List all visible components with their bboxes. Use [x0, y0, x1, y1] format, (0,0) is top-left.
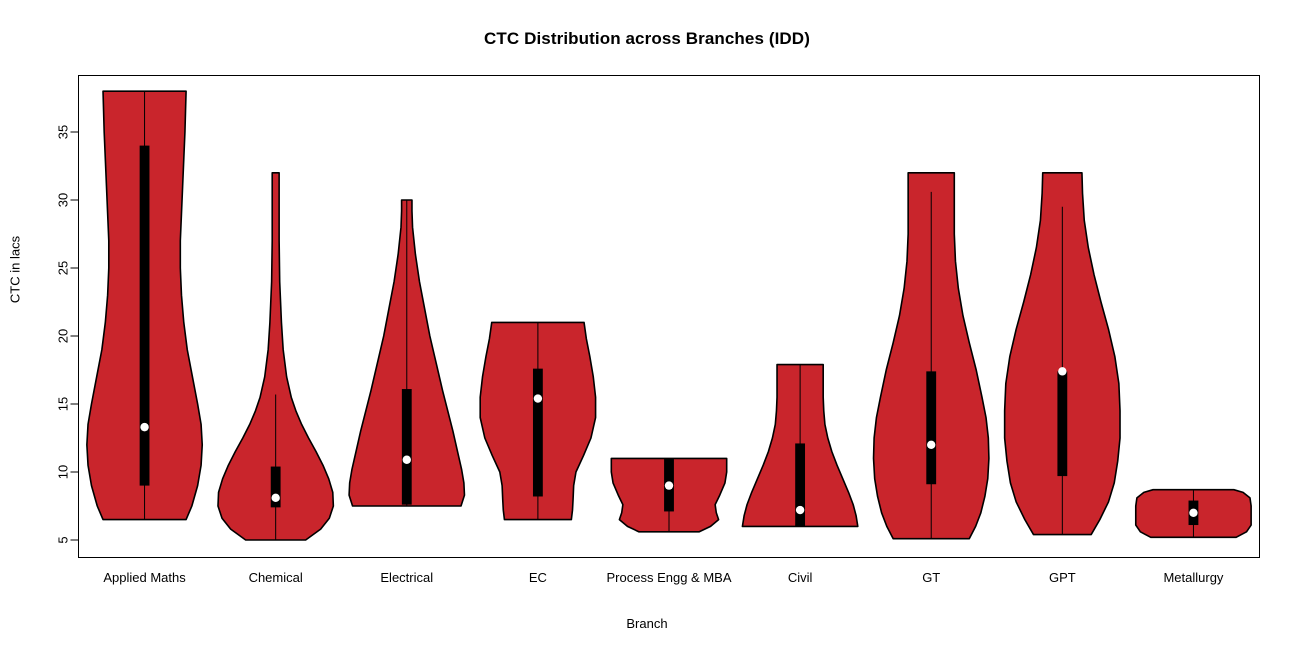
violin-group[interactable] [1005, 173, 1120, 535]
violin-group[interactable] [611, 458, 726, 531]
median-point [140, 423, 148, 431]
iqr-box [533, 369, 543, 497]
violin-chart-canvas: 5101520253035 Applied MathsChemicalElect… [0, 0, 1294, 653]
x-tick-label: GT [922, 570, 940, 585]
median-point [665, 481, 673, 489]
x-tick-label: GPT [1049, 570, 1076, 585]
violin-group[interactable] [480, 322, 595, 519]
iqr-box [926, 371, 936, 484]
y-tick-label: 25 [56, 261, 71, 275]
median-point [1058, 367, 1066, 375]
median-point [534, 394, 542, 402]
y-tick-label: 10 [56, 465, 71, 479]
x-tick-label: Applied Maths [103, 570, 186, 585]
iqr-box [402, 389, 412, 505]
median-point [1189, 509, 1197, 517]
x-tick-label: Electrical [380, 570, 433, 585]
violin-plot-figure: CTC Distribution across Branches (IDD) C… [0, 0, 1294, 653]
iqr-box [140, 146, 150, 486]
median-point [403, 456, 411, 464]
median-point [271, 494, 279, 502]
y-tick-label: 15 [56, 397, 71, 411]
x-tick-label: Chemical [249, 570, 303, 585]
violin-group[interactable] [87, 91, 202, 519]
violin-group[interactable] [218, 173, 333, 540]
y-tick-label: 35 [56, 125, 71, 139]
median-point [927, 441, 935, 449]
violin-series-layer [87, 91, 1251, 540]
median-point [796, 506, 804, 514]
y-tick-label: 30 [56, 193, 71, 207]
x-tick-label: Metallurgy [1163, 570, 1223, 585]
violin-group[interactable] [1136, 490, 1251, 538]
x-tick-label: Process Engg & MBA [607, 570, 732, 585]
y-tick-label: 5 [56, 536, 71, 543]
x-tick-label-layer: Applied MathsChemicalElectricalECProcess… [103, 570, 1224, 585]
violin-group[interactable] [742, 365, 857, 527]
violin-group[interactable] [349, 200, 464, 506]
y-tick-label: 20 [56, 329, 71, 343]
violin-group[interactable] [874, 173, 989, 539]
iqr-box [1057, 371, 1067, 476]
x-tick-label: EC [529, 570, 547, 585]
x-tick-label: Civil [788, 570, 813, 585]
